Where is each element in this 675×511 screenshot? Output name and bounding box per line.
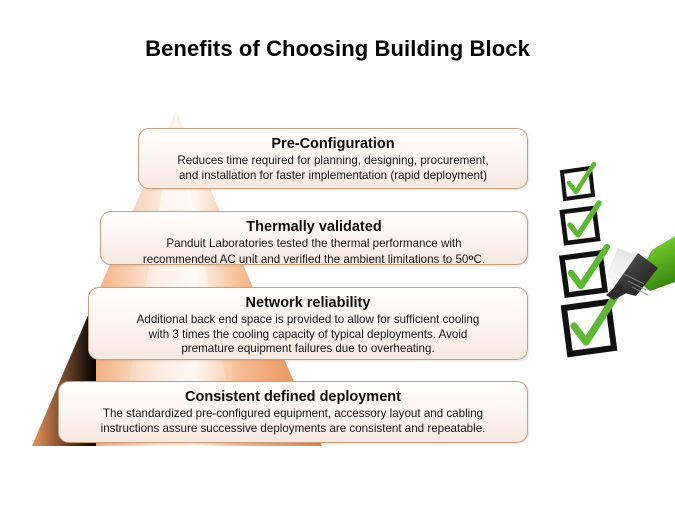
benefit-body-line-1: Additional back end space is provided to… [137, 313, 480, 326]
benefit-body-line-2-post: C. [473, 253, 485, 265]
page-title: Benefits of Choosing Building Block [0, 36, 675, 62]
checkbox-item-1[interactable] [562, 164, 594, 199]
benefit-title: Thermally validated [111, 218, 517, 236]
benefit-body: Additional back end space is provided to… [99, 313, 517, 356]
benefit-body-line-2: with 3 times the cooling capacity of typ… [149, 328, 468, 341]
checklist-svg [540, 150, 675, 365]
benefit-block-consistent-defined-deployment[interactable]: Consistent defined deployment The standa… [58, 381, 528, 443]
benefit-body-line-2: and installation for faster implementati… [179, 169, 487, 182]
checkbox-item-2[interactable] [562, 203, 599, 243]
benefit-body: Panduit Laboratories tested the thermal … [111, 237, 517, 265]
benefit-body-line-2: instructions assure successive deploymen… [101, 422, 486, 435]
benefit-body: Reduces time required for planning, desi… [149, 154, 517, 183]
checkbox-item-3[interactable] [562, 247, 607, 295]
benefit-body-line-1: The standardized pre-configured equipmen… [103, 407, 483, 420]
checklist-graphic [540, 150, 675, 365]
benefit-body: The standardized pre-configured equipmen… [69, 407, 517, 436]
checkbox-item-4[interactable] [564, 292, 618, 354]
slide-canvas: Benefits of Choosing Building Block [0, 0, 675, 506]
benefit-body-line-3: premature equipment failures due to over… [181, 342, 434, 355]
benefit-title: Network reliability [99, 294, 517, 312]
benefit-body-line-2-pre: recommended AC unit and verified the amb… [143, 253, 468, 265]
benefit-block-thermally-validated[interactable]: Thermally validated Panduit Laboratories… [100, 211, 528, 265]
benefit-block-network-reliability[interactable]: Network reliability Additional back end … [88, 287, 528, 360]
benefit-body-line-1: Panduit Laboratories tested the thermal … [166, 237, 461, 250]
benefit-title: Consistent defined deployment [69, 388, 517, 406]
benefit-block-pre-configuration[interactable]: Pre-Configuration Reduces time required … [138, 128, 528, 189]
benefit-title: Pre-Configuration [149, 135, 517, 153]
benefit-body-line-1: Reduces time required for planning, desi… [177, 154, 488, 167]
